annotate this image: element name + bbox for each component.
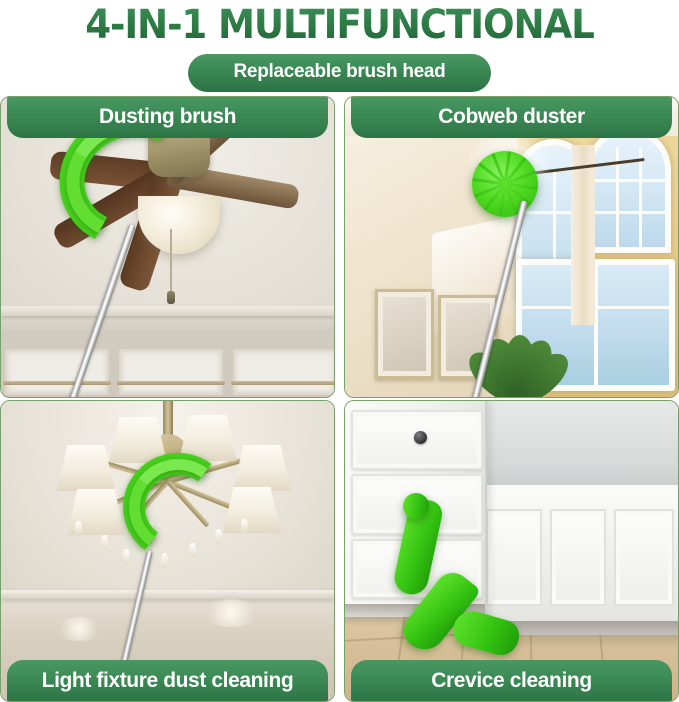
feature-panel-grid: Dusting brush: [0, 96, 679, 702]
panel-label-dusting-brush: Dusting brush: [7, 96, 328, 138]
infographic-header: 4-IN-1 MULTIFUNCTIONAL Replaceable brush…: [0, 0, 679, 92]
page-title: 4-IN-1 MULTIFUNCTIONAL: [24, 2, 655, 48]
feature-panel-dusting-brush: Dusting brush: [0, 96, 335, 398]
photo-chandelier-dusting: [1, 401, 334, 701]
panel-label-light-fixture: Light fixture dust cleaning: [7, 660, 328, 702]
subtitle-badge: Replaceable brush head: [188, 54, 492, 92]
photo-ceiling-fan-dusting: [1, 97, 334, 397]
feature-panel-crevice-cleaning: Crevice cleaning: [344, 400, 679, 702]
photo-under-furniture-crevice: [345, 401, 678, 701]
panel-label-crevice-cleaning: Crevice cleaning: [351, 660, 672, 702]
subtitle-container: Replaceable brush head: [0, 54, 679, 92]
panel-label-cobweb-duster: Cobweb duster: [351, 96, 672, 138]
feature-panel-cobweb-duster: Cobweb duster: [344, 96, 679, 398]
feature-panel-light-fixture: Light fixture dust cleaning: [0, 400, 335, 702]
product-infographic: 4-IN-1 MULTIFUNCTIONAL Replaceable brush…: [0, 0, 679, 702]
photo-cobweb-ceiling-corner: [345, 97, 678, 397]
